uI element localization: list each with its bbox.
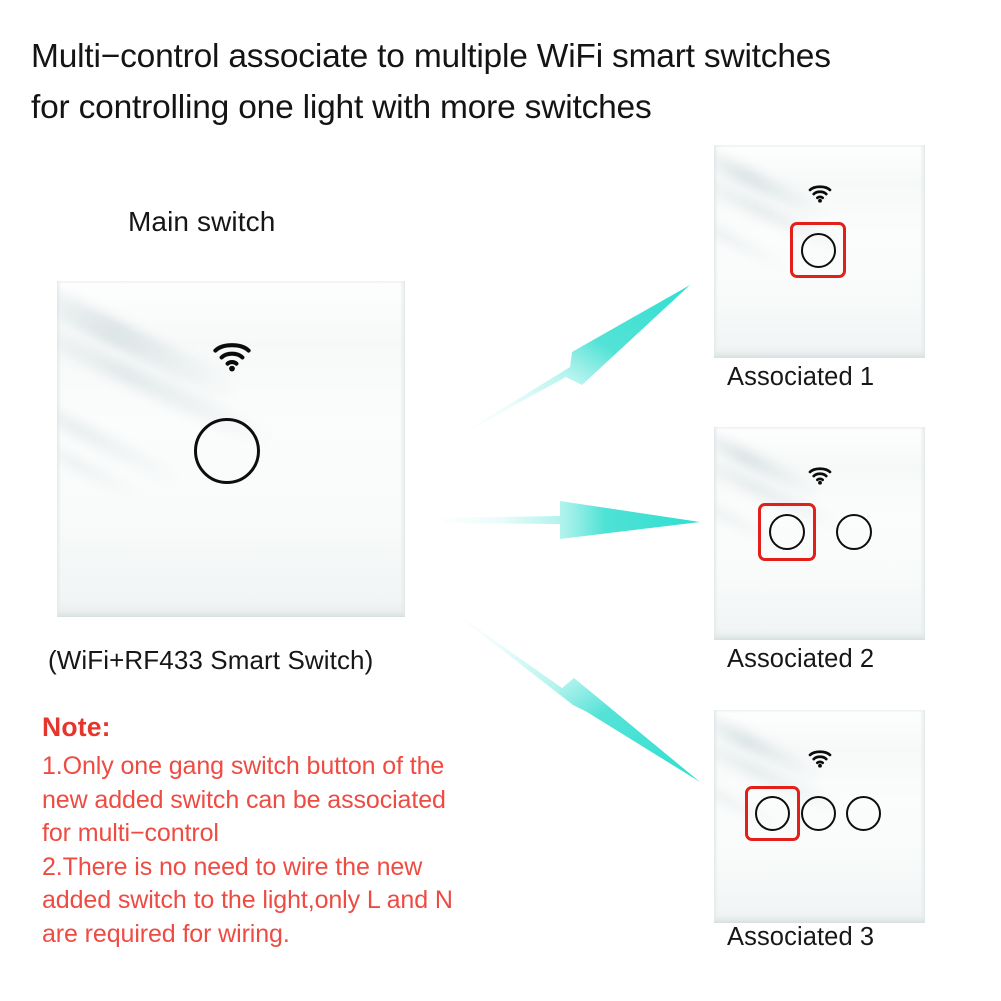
touch-button-1[interactable]: [755, 796, 790, 831]
touch-button-2[interactable]: [801, 796, 836, 831]
touch-button-1[interactable]: [194, 418, 260, 484]
main-switch-caption: (WiFi+RF433 Smart Switch): [48, 645, 373, 676]
wifi-icon: [808, 466, 832, 490]
panel-edge-left: [714, 145, 718, 358]
note-block: Note: 1.Only one gang switch button of t…: [42, 712, 562, 951]
touch-button-1[interactable]: [801, 233, 836, 268]
panel-edge-bottom: [714, 633, 925, 640]
main-switch-panel: [57, 281, 405, 617]
wifi-icon: [212, 341, 252, 377]
associated-2-label: Associated 2: [727, 645, 874, 674]
panel-edge-bottom: [714, 916, 925, 923]
panel-edge-left: [714, 710, 718, 923]
wifi-icon: [808, 184, 832, 208]
arrow-to-associated-2: [437, 501, 700, 539]
note-body: 1.Only one gang switch button of the new…: [42, 750, 562, 951]
arrow-to-associated-1: [455, 285, 690, 438]
panel-edge-top: [714, 710, 925, 713]
panel-glass-surface: [714, 427, 925, 640]
touch-button-2[interactable]: [836, 514, 872, 550]
associated-1-panel: [714, 145, 925, 358]
panel-edge-right: [400, 281, 405, 617]
associated-3-label: Associated 3: [727, 923, 874, 952]
touch-button-3[interactable]: [846, 796, 881, 831]
wifi-icon: [808, 749, 832, 773]
panel-edge-top: [57, 281, 405, 284]
panel-edge-right: [920, 145, 925, 358]
associated-3-panel: [714, 710, 925, 923]
panel-edge-top: [714, 145, 925, 148]
panel-edge-right: [920, 710, 925, 923]
note-title: Note:: [42, 712, 562, 743]
associated-1-label: Associated 1: [727, 363, 874, 392]
panel-edge-left: [57, 281, 61, 617]
associated-2-panel: [714, 427, 925, 640]
panel-edge-bottom: [714, 351, 925, 358]
page-title: Multi−control associate to multiple WiFi…: [31, 31, 991, 133]
panel-edge-right: [920, 427, 925, 640]
panel-edge-top: [714, 427, 925, 430]
panel-edge-bottom: [57, 610, 405, 617]
touch-button-1[interactable]: [769, 514, 805, 550]
main-switch-label: Main switch: [128, 206, 275, 238]
panel-edge-left: [714, 427, 718, 640]
